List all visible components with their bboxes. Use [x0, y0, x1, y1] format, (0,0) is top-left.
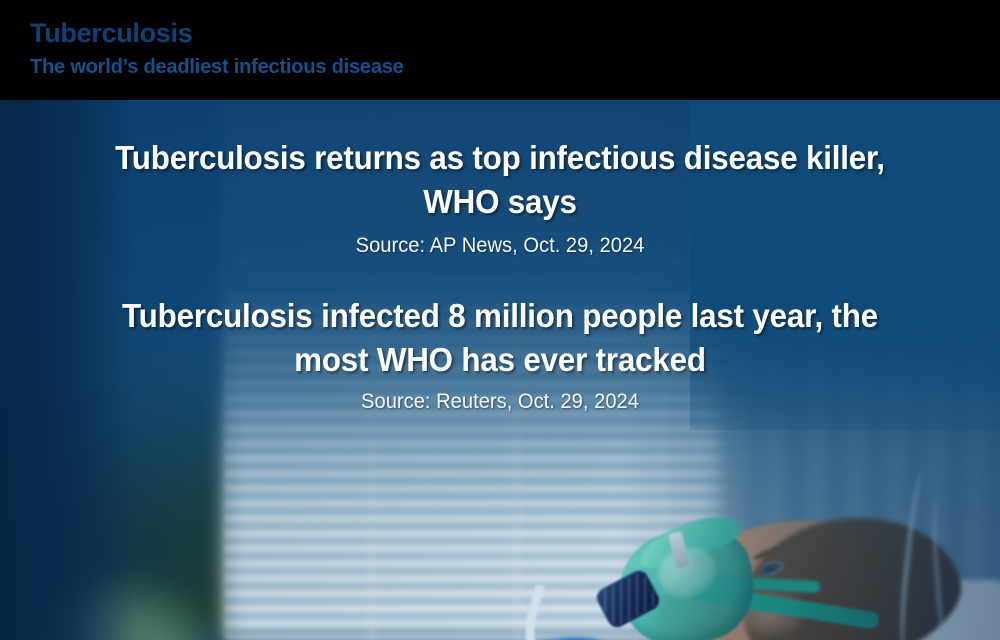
header-band: Tuberculosis The world’s deadliest infec… [0, 0, 1000, 100]
headline-2-source: Source: Reuters, Oct. 29, 2024 [78, 390, 923, 414]
slide-root: Tuberculosis returns as top infectious d… [0, 0, 1000, 640]
headline-1-source: Source: AP News, Oct. 29, 2024 [78, 234, 923, 258]
headline-2: Tuberculosis infected 8 million people l… [82, 294, 918, 381]
headline-1: Tuberculosis returns as top infectious d… [82, 136, 918, 223]
page-subtitle: The world’s deadliest infectious disease [30, 57, 404, 77]
page-title: Tuberculosis [30, 20, 192, 47]
headline-text-layer: Tuberculosis returns as top infectious d… [0, 100, 1000, 640]
